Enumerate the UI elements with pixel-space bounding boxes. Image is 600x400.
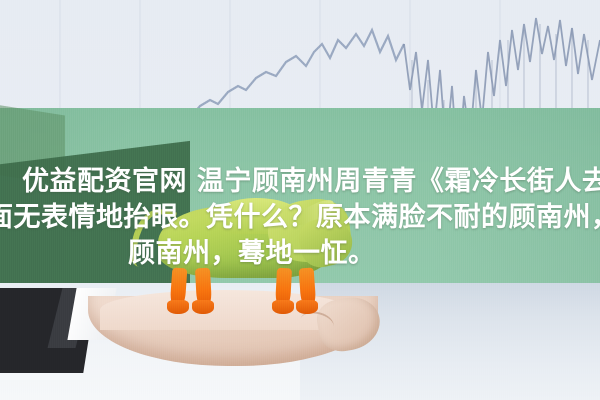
photo-texture (0, 0, 600, 400)
screenshot-root: 优益配资官网 温宁顾南州周青青《霜冷长街人去 面无表情地抬眼。凭什么？原本满脸不… (0, 0, 600, 400)
